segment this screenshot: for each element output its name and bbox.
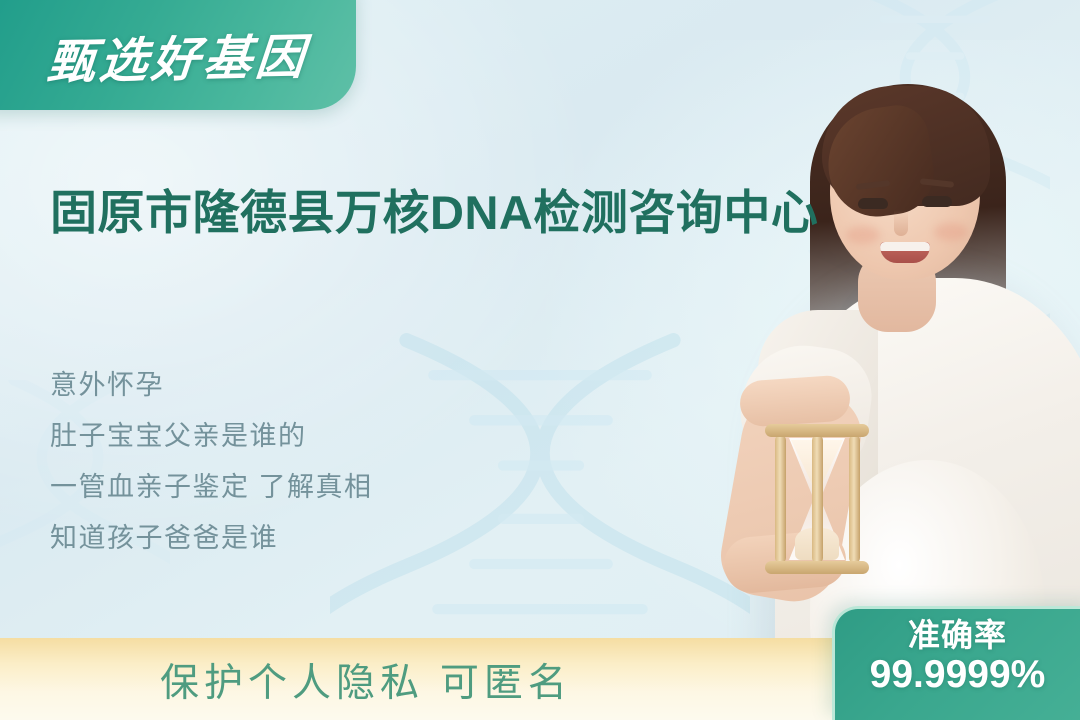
- teeth: [880, 242, 930, 251]
- hourglass-plate-bottom: [765, 561, 869, 574]
- page-title: 固原市隆德县万核DNA检测咨询中心: [50, 183, 830, 243]
- feature-list: 意外怀孕 肚子宝宝父亲是谁的 一管血亲子鉴定 了解真相 知道孩子爸爸是谁: [50, 372, 610, 576]
- accuracy-badge: 准确率 99.9999%: [832, 606, 1080, 720]
- feature-line: 知道孩子爸爸是谁: [50, 525, 610, 552]
- cheek-right: [934, 223, 968, 241]
- eye-right: [922, 196, 952, 207]
- feature-line: 意外怀孕: [50, 372, 610, 399]
- nose: [894, 210, 908, 236]
- hourglass-post-left: [775, 435, 786, 563]
- promo-poster: 甄选好基因 固原市隆德县万核DNA检测咨询中心 意外怀孕 肚子宝宝父亲是谁的 一…: [0, 0, 1080, 720]
- hourglass-icon: [765, 424, 869, 574]
- hourglass-post-right: [849, 435, 860, 563]
- mouth: [880, 242, 930, 263]
- feature-line: 肚子宝宝父亲是谁的: [50, 423, 610, 450]
- brand-logo-banner[interactable]: 甄选好基因: [0, 0, 356, 110]
- accuracy-badge-value: 99.9999%: [870, 653, 1046, 698]
- feature-line: 一管血亲子鉴定 了解真相: [50, 474, 610, 501]
- hourglass-post-center: [812, 435, 823, 563]
- accuracy-badge-label: 准确率: [908, 618, 1007, 653]
- cheek-left: [846, 226, 880, 244]
- eye-left: [858, 198, 888, 209]
- hourglass-plate-top: [765, 424, 869, 437]
- hand-upper: [739, 374, 852, 428]
- privacy-tagline: 保护个人隐私 可匿名: [160, 652, 572, 708]
- brand-logo-text: 甄选好基因: [45, 17, 311, 92]
